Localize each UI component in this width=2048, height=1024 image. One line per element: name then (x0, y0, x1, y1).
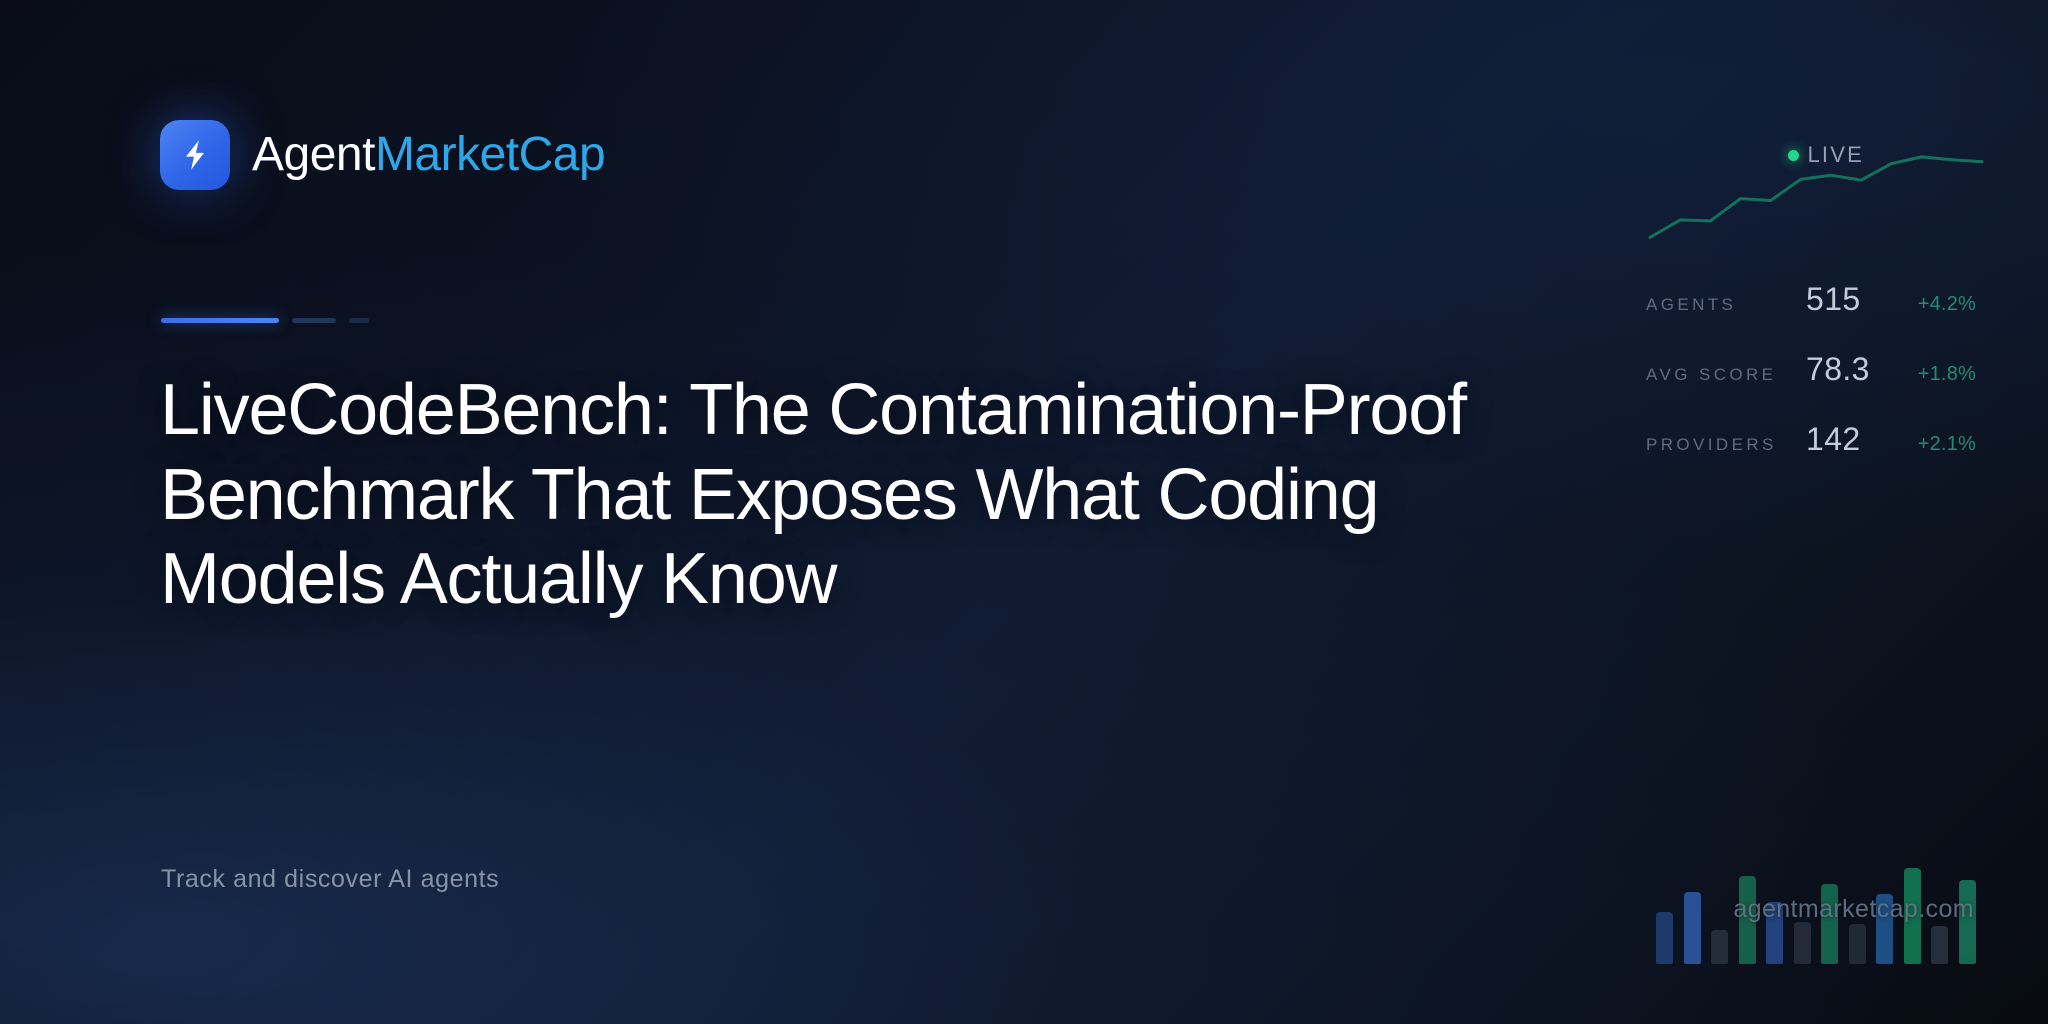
brand-logo[interactable]: AgentMarketCap (160, 120, 605, 190)
stat-label: AGENTS (1646, 295, 1796, 315)
activity-bar (1711, 930, 1728, 964)
accent-dash-1 (161, 318, 279, 323)
brand-name-accent: MarketCap (375, 128, 605, 181)
stat-row: AGENTS 515 +4.2% (1646, 281, 1976, 351)
accent-bar (161, 318, 369, 323)
stat-delta: +2.1% (1898, 433, 1976, 456)
stat-row: PROVIDERS 142 +2.1% (1646, 421, 1976, 491)
activity-bar (1656, 912, 1673, 964)
stats-panel: LIVE AGENTS 515 +4.2% AVG SCORE 78.3 +1.… (1646, 148, 1976, 491)
activity-bar (1684, 892, 1701, 964)
stat-value: 78.3 (1806, 351, 1898, 388)
stat-label: PROVIDERS (1646, 435, 1796, 455)
stat-value: 142 (1806, 421, 1898, 458)
page-title: LiveCodeBench: The Contamination-Proof B… (160, 368, 1480, 622)
site-watermark: agentmarketcap.com (1733, 895, 1974, 924)
brand-wordmark: AgentMarketCap (252, 131, 605, 179)
stat-label: AVG SCORE (1646, 365, 1796, 385)
hero-banner: AgentMarketCap LiveCodeBench: The Contam… (0, 0, 2048, 1024)
logo-badge (160, 120, 230, 190)
tagline: Track and discover AI agents (161, 865, 499, 894)
live-sparkline-chart: LIVE (1646, 148, 1976, 253)
brand-name-primary: Agent (252, 128, 375, 181)
activity-bar (1931, 926, 1948, 964)
stat-row: AVG SCORE 78.3 +1.8% (1646, 351, 1976, 421)
live-dot-icon (1788, 150, 1799, 161)
lightning-bolt-icon (177, 137, 213, 173)
stat-delta: +1.8% (1898, 363, 1976, 386)
accent-dash-3 (349, 318, 369, 323)
live-label: LIVE (1808, 142, 1865, 168)
live-indicator: LIVE (1788, 142, 1865, 168)
stat-value: 515 (1806, 281, 1898, 318)
stat-delta: +4.2% (1898, 293, 1976, 316)
activity-bar (1849, 924, 1866, 964)
accent-dash-2 (292, 318, 336, 323)
activity-bar (1794, 922, 1811, 964)
